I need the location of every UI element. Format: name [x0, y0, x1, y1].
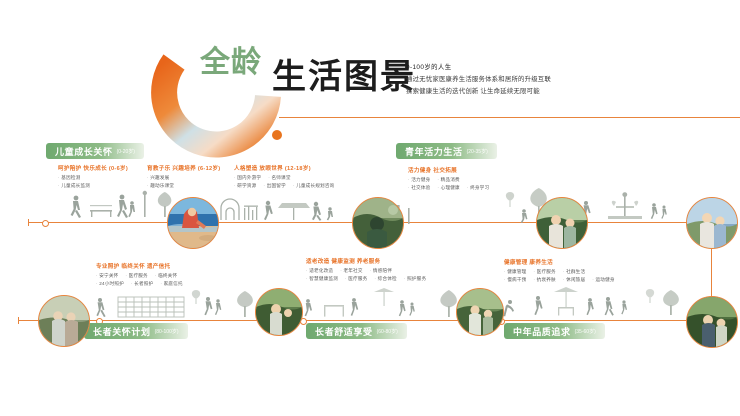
block-heading: 适老改造 健康监测 养老服务	[306, 257, 426, 265]
youth-outdoor-photo[interactable]	[352, 197, 404, 249]
block-item: 精品消费	[437, 177, 459, 183]
block-heading: 健康管理 康养生活	[504, 258, 615, 266]
infographic-canvas: 全龄 生活图景 0-100岁的人生 通过无忧家医康养生活服务体系和居所的升级互联…	[0, 0, 740, 416]
block-midlife-0: 健康管理 康养生活 健康管理 医疗服务 社群生活 慢病干预 抗衰养肤 休闲旅居 …	[504, 258, 615, 283]
block-item: 医疗服务	[125, 273, 147, 279]
block-item: 国内外游学	[234, 175, 261, 181]
subtitle-line-2: 通过无忧家医康养生活服务体系和居所的升级互联	[406, 74, 596, 86]
header: 全龄 生活图景 0-100岁的人生 通过无忧家医康养生活服务体系和居所的升级互联…	[0, 0, 740, 138]
elder-garden-photo[interactable]	[686, 296, 738, 348]
silhouette-scene-midlife-leisure	[500, 286, 690, 322]
block-child-2: 人格塑造 放眼世界 (12-18岁) 国内外游学 名师课堂 研学资源 出国留学 …	[234, 164, 334, 189]
block-child-0: 呵护陪护 快乐成长 (0-6岁) 基因检测 儿童成长监测	[58, 164, 128, 189]
badge-label: 长者舒适享受	[315, 325, 373, 338]
silhouette-scene-elder-activity	[300, 288, 480, 322]
block-item: 研学资源	[234, 183, 256, 189]
block-item: 运动健身	[592, 277, 614, 283]
badge-range: (0-20岁)	[117, 148, 135, 155]
block-row: 基因检测	[58, 175, 128, 181]
block-item: 老年社交	[340, 268, 362, 274]
block-row: 活力健身 精品消费	[408, 177, 489, 183]
badge-label: 青年活力生活	[405, 145, 463, 158]
block-item: 医疗服务	[533, 269, 555, 275]
block-item: 抗衰养肤	[533, 277, 555, 283]
block-item: 基因检测	[58, 175, 80, 181]
block-youth-0: 活力健身 社交拓展 活力健身 精品消费 社交体验 心理健康 终身学习	[408, 166, 489, 191]
block-heading: 活力健身 社交拓展	[408, 166, 489, 174]
silhouette-scene-building	[92, 288, 262, 322]
block-item: 长者照护	[131, 281, 153, 287]
block-row: 安宁关怀 医疗服务 临终关怀	[96, 273, 183, 279]
block-item: 慢病干预	[504, 277, 526, 283]
block-row: 研学资源 出国留学 儿童成长规划咨询	[234, 183, 334, 189]
block-item: 终身学习	[467, 185, 489, 191]
block-heading: 专业照护 临终关怀 遗产信托	[96, 262, 183, 270]
badge-range: (60-80岁)	[377, 328, 398, 335]
child-beach-photo[interactable]	[167, 197, 219, 249]
block-row: 慢病干预 抗衰养肤 休闲旅居 运动健身	[504, 277, 615, 283]
block-item: 临终关怀	[155, 273, 177, 279]
block-item: 安宁关怀	[96, 273, 118, 279]
block-item: 适老化改造	[306, 268, 333, 274]
badge-range: (80-100岁)	[155, 328, 179, 335]
block-heading: 育教子乐 兴趣培养 (6-12岁)	[147, 164, 220, 172]
timeline-bottom-start-cap	[18, 317, 19, 324]
subtitle-block: 0-100岁的人生 通过无忧家医康养生活服务体系和居所的升级互联 探索健康生活的…	[406, 62, 596, 98]
silhouette-scene-park	[218, 196, 346, 224]
timeline-top-start-cap	[28, 219, 29, 226]
subtitle-lead: 0-100岁的人生	[406, 62, 596, 74]
block-row: 国内外游学 名师课堂	[234, 175, 334, 181]
block-item: 情感陪伴	[370, 268, 392, 274]
badge-elder-care-plan: 长者关怀计划 (80-100岁)	[84, 323, 188, 339]
midlife-walk-photo[interactable]	[686, 197, 738, 249]
block-item: 家庭信托	[160, 281, 182, 287]
block-elder-care-0: 专业照护 临终关怀 遗产信托 安宁关怀 医疗服务 临终关怀 24小时照护 长者照…	[96, 262, 183, 287]
block-row: 智慧健康监测 医疗服务 综合体检 照护服务	[306, 276, 426, 282]
block-row: 社交体验 心理健康 终身学习	[408, 185, 489, 191]
block-row: 24小时照护 长者照护 家庭信托	[96, 281, 183, 287]
block-item: 社群生活	[563, 269, 585, 275]
badge-label: 长者关怀计划	[93, 325, 151, 338]
block-item: 名师课堂	[268, 175, 290, 181]
arc-end-dot	[272, 130, 282, 140]
block-item: 社交体验	[408, 185, 430, 191]
block-row: 健康管理 医疗服务 社群生活	[504, 269, 615, 275]
subtitle-line-3: 探索健康生活的迭代创新 让生命延续无限可能	[406, 86, 596, 98]
block-child-1: 育教子乐 兴趣培养 (6-12岁) 兴趣发展 趣动乐课堂	[147, 164, 220, 189]
block-item: 24小时照护	[96, 281, 124, 287]
silhouette-scene-playground	[60, 188, 180, 224]
block-item: 心理健康	[437, 185, 459, 191]
block-row: 适老化改造 老年社交 情感陪伴	[306, 268, 426, 274]
block-item: 综合体检	[374, 276, 396, 282]
block-item: 活力健身	[408, 177, 430, 183]
elder-couple-photo[interactable]	[38, 295, 90, 347]
block-item: 医疗服务	[345, 276, 367, 282]
block-row: 兴趣发展	[147, 175, 220, 181]
block-item: 休闲旅居	[563, 277, 585, 283]
badge-youth-vitality: 青年活力生活 (20-35岁)	[396, 143, 497, 159]
block-item: 智慧健康监测	[306, 276, 338, 282]
youth-couple-photo[interactable]	[536, 197, 588, 249]
badge-label: 中年品质追求	[513, 325, 571, 338]
block-item: 照护服务	[404, 276, 426, 282]
block-heading: 呵护陪护 快乐成长 (0-6岁)	[58, 164, 128, 172]
block-item: 儿童成长规划咨询	[293, 183, 335, 189]
badge-child-growth: 儿童成长关怀 (0-20岁)	[46, 143, 144, 159]
badge-range: (20-35岁)	[467, 148, 488, 155]
block-heading: 人格塑造 放眼世界 (12-18岁)	[234, 164, 334, 172]
block-elder-comfort-0: 适老改造 健康监测 养老服务 适老化改造 老年社交 情感陪伴 智慧健康监测 医疗…	[306, 257, 426, 282]
elder-garden-photo[interactable]	[456, 288, 504, 336]
badge-elder-comfort: 长者舒适享受 (60-80岁)	[306, 323, 407, 339]
block-item: 兴趣发展	[147, 175, 169, 181]
badge-range: (35-60岁)	[575, 328, 596, 335]
title-quanling: 全龄	[200, 48, 262, 78]
badge-midlife-quality: 中年品质追求 (35-60岁)	[504, 323, 605, 339]
block-item: 健康管理	[504, 269, 526, 275]
elder-garden-photo[interactable]	[255, 288, 303, 336]
block-item: 出国留学	[263, 183, 285, 189]
badge-label: 儿童成长关怀	[55, 145, 113, 158]
timeline-node	[42, 220, 49, 227]
page-title: 生活图景	[272, 60, 416, 94]
header-rule	[279, 117, 740, 118]
